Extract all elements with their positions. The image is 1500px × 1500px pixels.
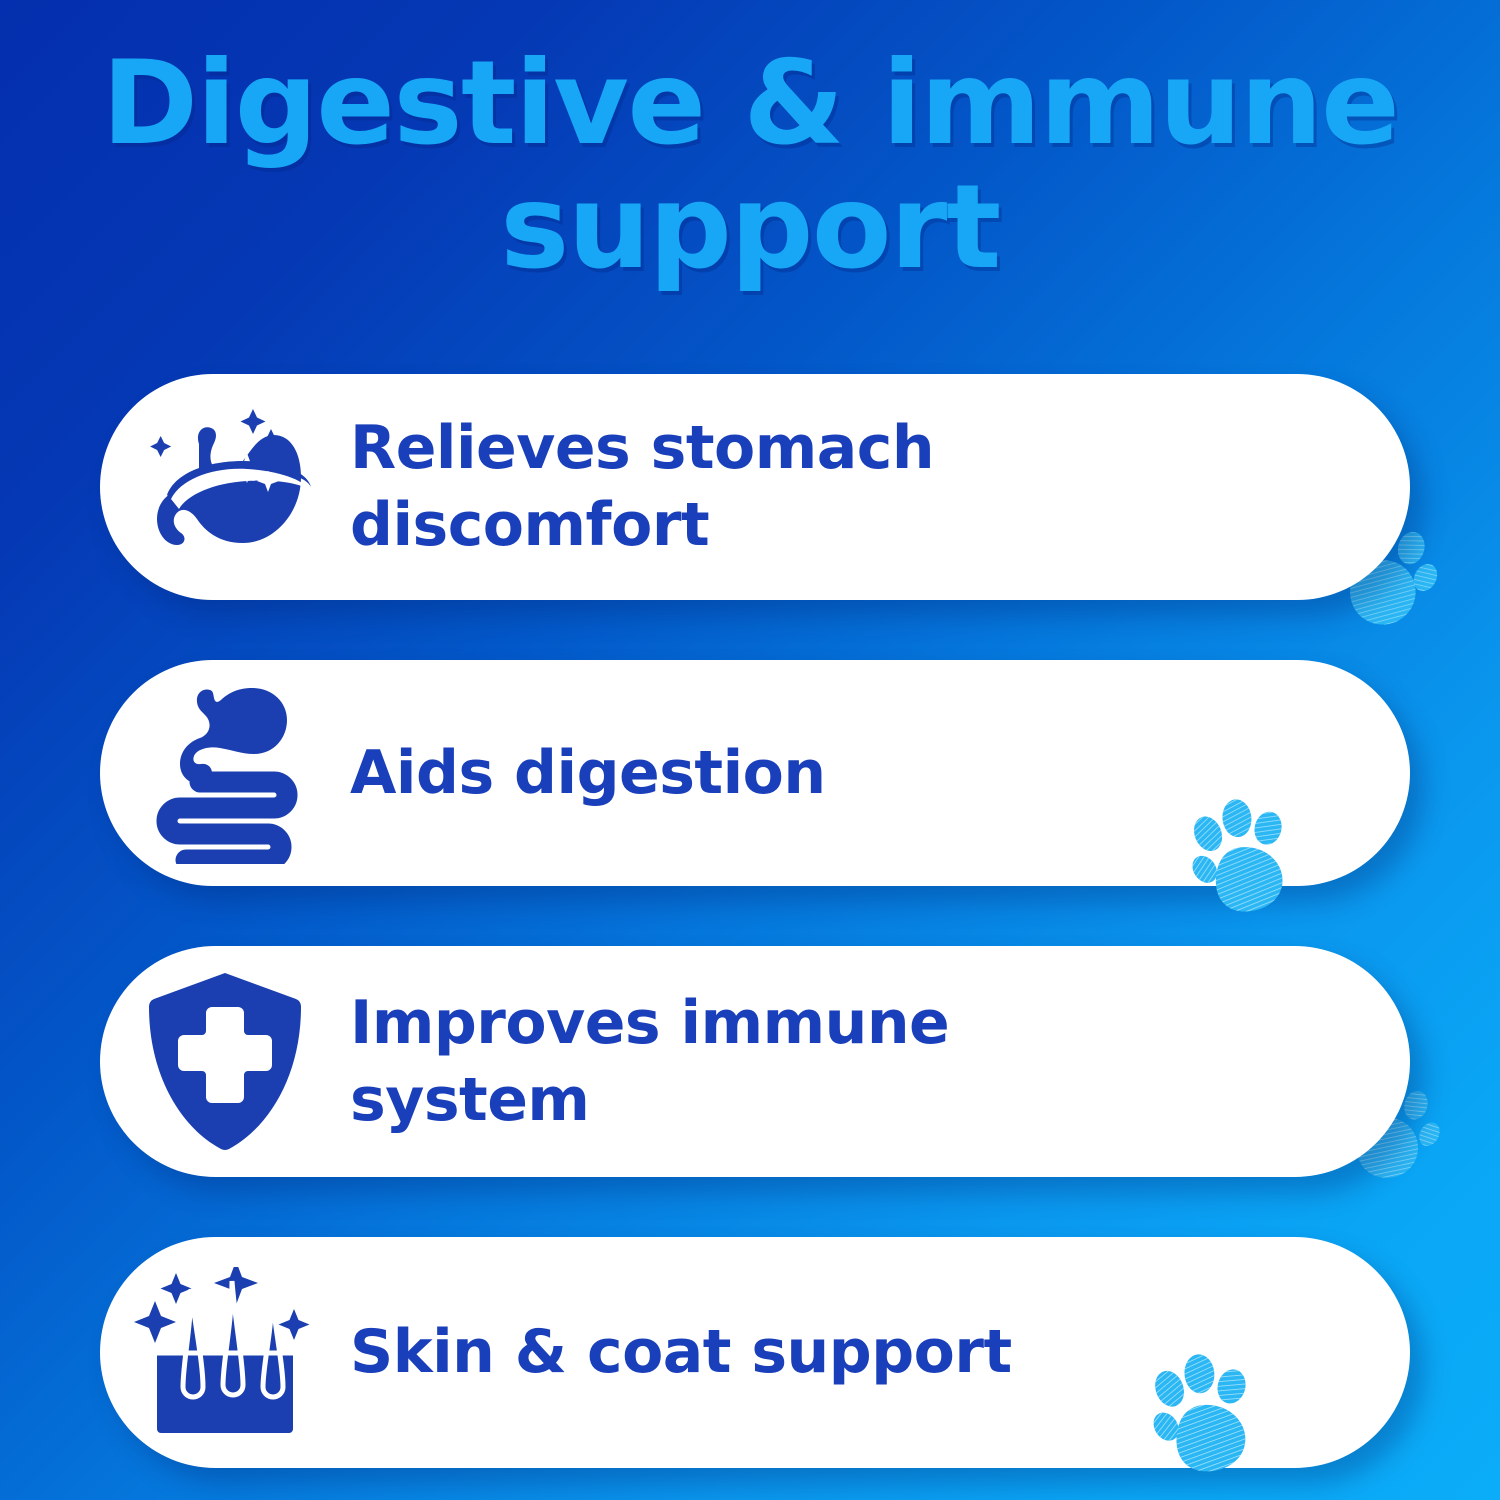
- benefit-label: Aids digestion: [350, 735, 1410, 812]
- promo-poster: Digestive & immune support: [0, 0, 1500, 1500]
- stomach-intestine-icon: [150, 682, 300, 864]
- stomach-orbit-sparkle-icon: [135, 403, 315, 571]
- benefit-card-skin-and-coat-support[interactable]: Skin & coat support: [100, 1237, 1410, 1468]
- benefit-label: Skin & coat support: [350, 1314, 1410, 1391]
- page-title: Digestive & immune support: [0, 42, 1500, 290]
- shield-medical-cross-icon: [146, 969, 304, 1155]
- benefit-label: Improves immune system: [350, 985, 1410, 1139]
- benefit-icon-slot: [100, 682, 350, 864]
- benefit-card-relieves-stomach-discomfort[interactable]: Relieves stomach discomfort: [100, 374, 1410, 600]
- benefit-card-improves-immune-system[interactable]: Improves immune system: [100, 946, 1410, 1177]
- benefit-label: Relieves stomach discomfort: [350, 410, 1410, 564]
- hair-follicle-skin-sparkle-icon: [131, 1267, 319, 1439]
- benefit-card-list: Relieves stomach discomfort Aids digesti…: [100, 374, 1410, 1468]
- benefit-icon-slot: [100, 403, 350, 571]
- benefit-card-aids-digestion[interactable]: Aids digestion: [100, 660, 1410, 886]
- benefit-icon-slot: [100, 969, 350, 1155]
- benefit-icon-slot: [100, 1267, 350, 1439]
